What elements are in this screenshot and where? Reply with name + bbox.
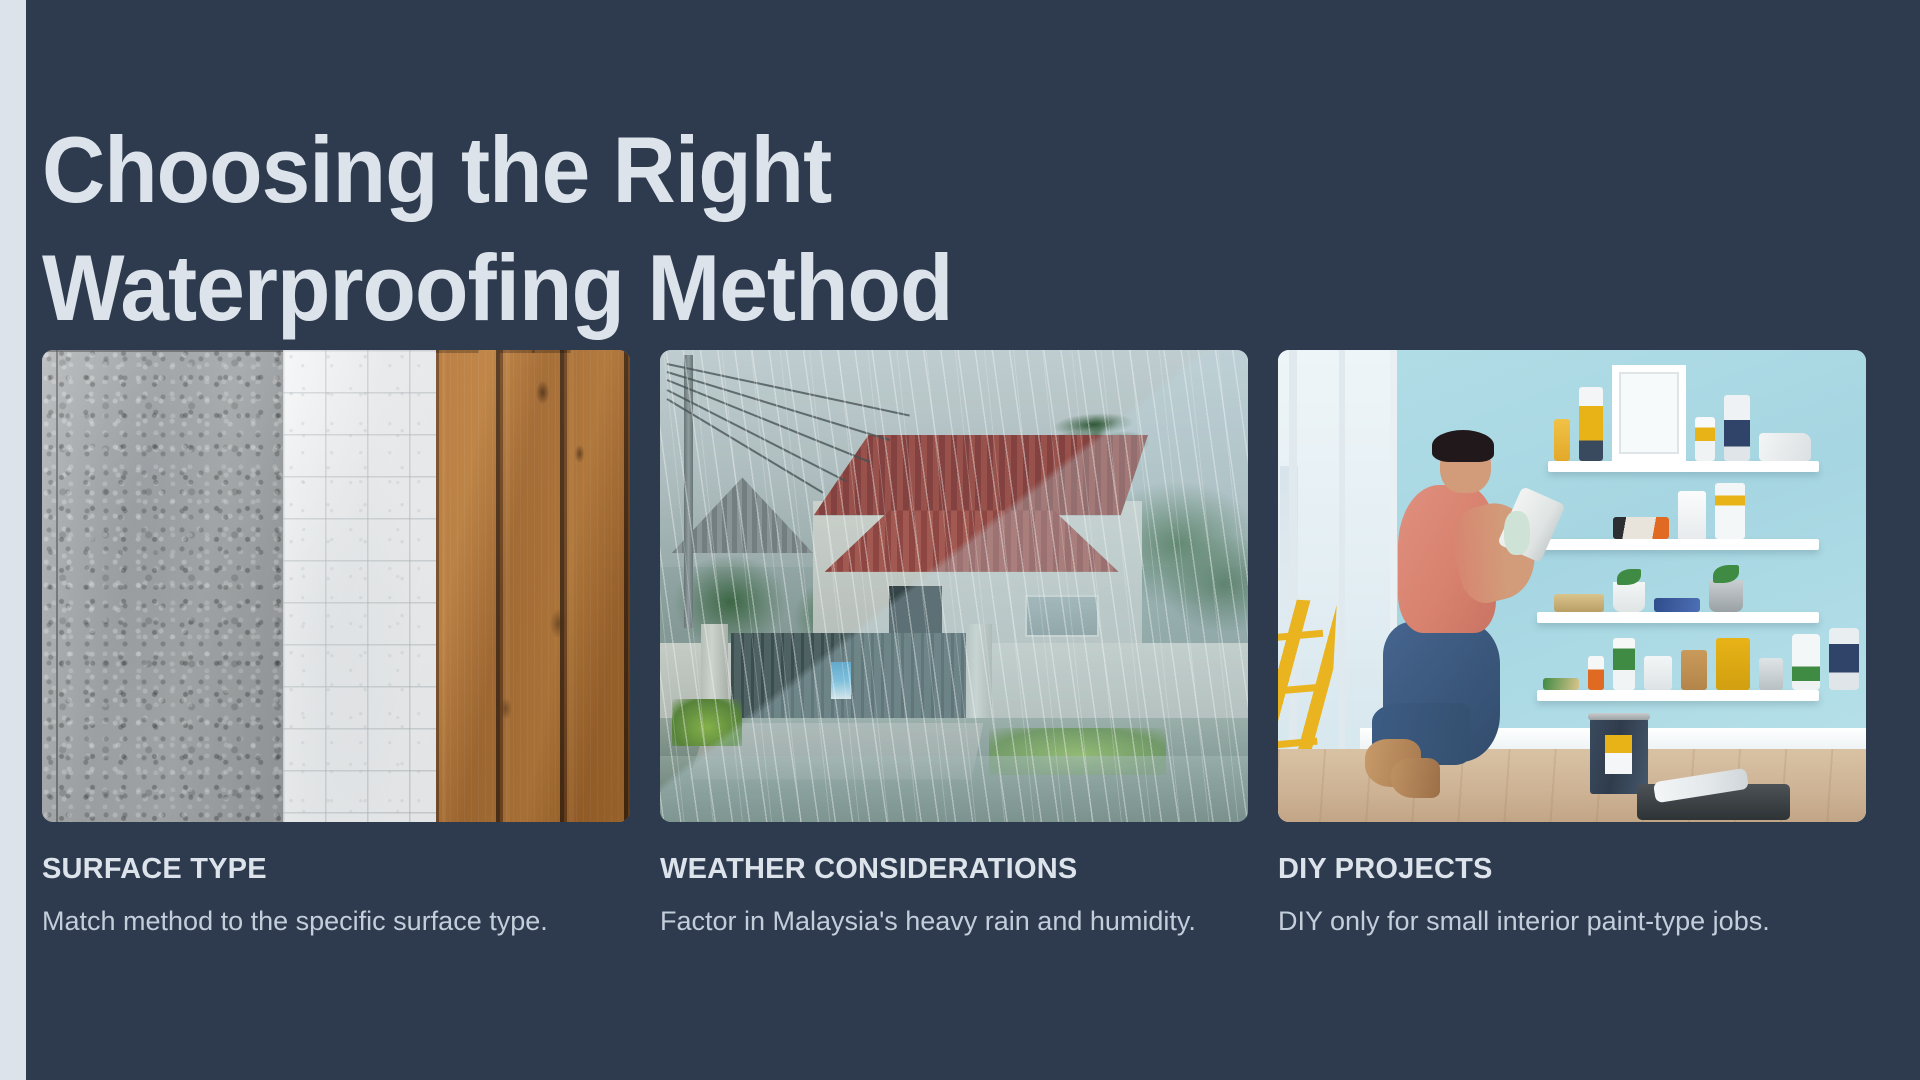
shelf-bottom <box>1537 690 1819 701</box>
worker-shoe-right <box>1391 758 1440 798</box>
shelf-top <box>1548 461 1818 472</box>
green-label-bottle <box>1613 638 1635 690</box>
metal-jug <box>1759 658 1783 690</box>
card-body: Match method to the specific surface typ… <box>42 901 602 941</box>
small-orange-bottle <box>1588 656 1604 690</box>
diy-scene <box>1278 350 1866 822</box>
solvent-bottle <box>1724 395 1750 461</box>
card-row: SURFACE TYPE Match method to the specifi… <box>42 350 1866 941</box>
glue-gun <box>1759 433 1811 461</box>
paper-bag <box>1681 650 1707 690</box>
product-tub <box>1695 417 1715 461</box>
shelf-bottom-items <box>1543 619 1859 690</box>
concrete-band <box>42 350 283 822</box>
sealant-can <box>1579 387 1603 461</box>
yellow-box <box>1716 638 1750 690</box>
card-weather-considerations: WEATHER CONSIDERATIONS Factor in Malaysi… <box>660 350 1248 941</box>
surface-bands <box>42 350 630 822</box>
plant-leaf <box>1617 569 1641 585</box>
wood-band <box>436 350 630 822</box>
slide-root: Choosing the Right Waterproofing Method … <box>0 0 1920 1080</box>
stacked-books <box>1554 594 1604 612</box>
yellow-label-tub <box>1715 483 1745 539</box>
card-title: SURFACE TYPE <box>42 855 630 884</box>
shelf-second-items <box>1613 482 1745 539</box>
card-body: DIY only for small interior paint-type j… <box>1278 901 1838 941</box>
blue-product-box <box>1654 598 1700 612</box>
white-canister <box>1678 491 1706 539</box>
shelf-third-items <box>1554 553 1743 612</box>
paint-can <box>1590 718 1649 794</box>
navy-label-bottle <box>1829 628 1859 690</box>
worker-hair <box>1432 430 1494 461</box>
tile-band <box>283 350 436 822</box>
shelf-second <box>1537 539 1819 550</box>
window-mullion-2 <box>1339 350 1345 765</box>
page-title: Choosing the Right Waterproofing Method <box>42 111 1251 347</box>
picture-frame <box>1612 365 1686 461</box>
rain-scene <box>660 350 1248 822</box>
diy-worker <box>1372 430 1560 798</box>
plant-pot-white <box>1613 582 1645 612</box>
card-diy-projects: DIY PROJECTS DIY only for small interior… <box>1278 350 1866 941</box>
card-title: DIY PROJECTS <box>1278 855 1866 884</box>
humidity-haze <box>660 350 1248 822</box>
card-surface-type: SURFACE TYPE Match method to the specifi… <box>42 350 630 941</box>
card-body: Factor in Malaysia's heavy rain and humi… <box>660 901 1220 941</box>
shelf-top-items <box>1554 388 1811 461</box>
diy-interior-image <box>1278 350 1866 822</box>
worker-glove <box>1504 511 1530 555</box>
surface-materials-image <box>42 350 630 822</box>
plant-pot-metal <box>1709 580 1743 612</box>
left-accent-strip <box>0 0 26 1080</box>
white-jug <box>1792 634 1820 690</box>
rainy-house-image <box>660 350 1248 822</box>
paint-pail <box>1644 656 1672 690</box>
plant-leaf <box>1713 565 1739 583</box>
card-title: WEATHER CONSIDERATIONS <box>660 855 1248 884</box>
tool-box-strip <box>1613 517 1669 539</box>
